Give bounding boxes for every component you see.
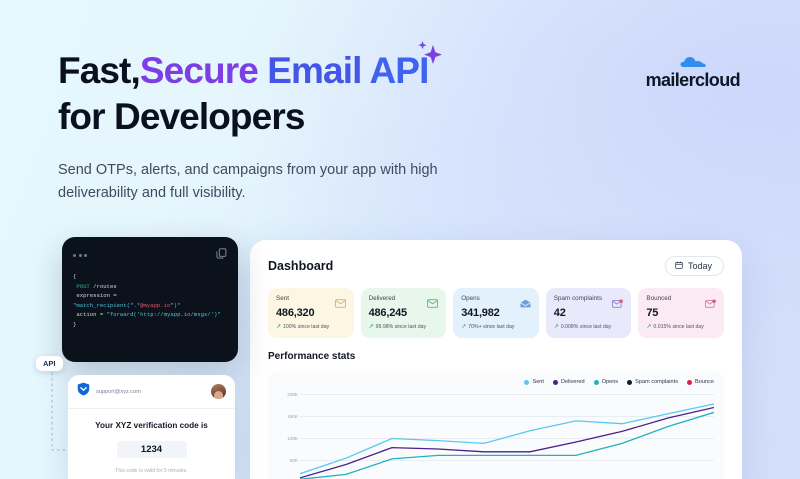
chart-series-canvas xyxy=(300,392,714,479)
y-tick-label: 100K xyxy=(287,436,298,441)
stat-card-delivered[interactable]: Delivered 486,245 ↗ 99.98% since last da… xyxy=(361,288,447,338)
legend-label: Delivered xyxy=(561,379,585,385)
stat-delta-label: 100% since last day xyxy=(283,324,329,330)
legend-item-sent[interactable]: Sent xyxy=(524,379,544,385)
chart-plot-area: 200K 150K 100K 50K xyxy=(278,392,714,479)
dashboard-panel: Dashboard Today Sent 486,320 xyxy=(250,240,742,479)
stat-value: 42 xyxy=(554,307,624,319)
email-preview-header: support@xyz.com xyxy=(68,375,235,409)
headline-fast: Fast, xyxy=(58,50,140,91)
api-badge-label: API xyxy=(43,359,56,368)
stat-label: Delivered xyxy=(369,295,396,302)
email-sender-address: support@xyz.com xyxy=(96,389,205,395)
verification-code: 1234 xyxy=(117,441,187,458)
legend-swatch xyxy=(627,380,632,385)
y-tick-label: 50K xyxy=(290,458,298,463)
envelope-open-icon xyxy=(520,295,531,304)
code-panel-toolbar xyxy=(73,246,227,264)
stat-card-sent[interactable]: Sent 486,320 ↗ 100% since last day xyxy=(268,288,354,338)
stat-value: 75 xyxy=(646,307,716,319)
legend-label: Opens xyxy=(602,379,618,385)
envelope-bounce-icon xyxy=(705,295,716,304)
legend-item-delivered[interactable]: Delivered xyxy=(553,379,585,385)
stat-label: Spam complaints xyxy=(554,295,602,302)
api-badge: API xyxy=(36,356,63,371)
stat-delta-label: 0.015% since last day xyxy=(653,324,703,330)
trend-up-icon: ↗ xyxy=(646,324,651,330)
code-open-brace: { xyxy=(73,273,76,280)
hero-subhead: Send OTPs, alerts, and campaigns from yo… xyxy=(58,159,478,206)
stat-delta: ↗ 0.015% since last day xyxy=(646,324,716,330)
avatar xyxy=(211,384,226,399)
stat-card-bounced[interactable]: Bounced 75 ↗ 0.015% since last day xyxy=(638,288,724,338)
performance-chart: Sent Delivered Opens Spam complaints Bou… xyxy=(268,371,724,479)
trend-up-icon: ↗ xyxy=(276,324,281,330)
email-preview-note: This code is valid for 5 minutes. xyxy=(82,468,221,474)
trend-up-icon: ↗ xyxy=(369,324,374,330)
chart-line-delivered xyxy=(300,408,714,478)
y-axis: 200K 150K 100K 50K xyxy=(278,392,300,479)
stat-delta-label: 0.008% since last day xyxy=(561,324,611,330)
code-expression-value-post: ")" xyxy=(170,302,180,309)
trend-up-icon: ↗ xyxy=(461,324,466,330)
stat-delta-label: 99.98% since last day xyxy=(376,324,426,330)
headline-email: Email xyxy=(258,50,362,91)
performance-stats-title: Performance stats xyxy=(268,351,724,362)
stat-value: 341,982 xyxy=(461,307,531,319)
stat-label: Bounced xyxy=(646,295,671,302)
envelope-alert-icon xyxy=(612,295,623,304)
code-expression-domain: @myapp.io xyxy=(140,302,170,309)
legend-swatch xyxy=(553,380,558,385)
code-block: { POST /routes expression = "match_recip… xyxy=(73,272,227,330)
code-expression-key: expression = xyxy=(73,292,117,299)
dashboard-title: Dashboard xyxy=(268,259,333,273)
stat-label: Opens xyxy=(461,295,480,302)
code-path: /routes xyxy=(90,283,117,290)
chart-legend: Sent Delivered Opens Spam complaints Bou… xyxy=(278,379,714,385)
code-close-brace: } xyxy=(73,321,76,328)
stat-cards: Sent 486,320 ↗ 100% since last day Deliv… xyxy=(268,288,724,338)
chart-line-sent xyxy=(300,404,714,474)
code-method: POST xyxy=(76,283,89,290)
code-action-value: "forward('http://myapp.io/msgs/')" xyxy=(107,311,221,318)
hero-section: Fast,Secure Email API for Developers Sen… xyxy=(58,48,538,206)
stat-delta: ↗ 70%+ since last day xyxy=(461,324,531,330)
legend-swatch xyxy=(594,380,599,385)
email-preview-title: Your XYZ verification code is xyxy=(82,420,221,432)
legend-label: Bounce xyxy=(695,379,714,385)
stat-delta: ↗ 0.008% since last day xyxy=(554,324,624,330)
legend-swatch xyxy=(524,380,529,385)
legend-item-opens[interactable]: Opens xyxy=(594,379,618,385)
stat-delta: ↗ 100% since last day xyxy=(276,324,346,330)
email-preview-body: Your XYZ verification code is 1234 This … xyxy=(68,409,235,474)
brand-name: mailercloud xyxy=(646,70,740,90)
y-tick-label: 200K xyxy=(287,392,298,397)
legend-item-bounce[interactable]: Bounce xyxy=(687,379,714,385)
sparkle-icon xyxy=(407,37,447,77)
window-dots-icon xyxy=(73,254,87,257)
legend-label: Sent xyxy=(532,379,544,385)
stat-card-opens[interactable]: Opens 341,982 ↗ 70%+ since last day xyxy=(453,288,539,338)
stat-value: 486,245 xyxy=(369,307,439,319)
calendar-icon xyxy=(675,261,683,271)
brand-logo[interactable]: mailercloud xyxy=(646,55,740,91)
shield-check-icon xyxy=(77,382,90,401)
email-preview-card: support@xyz.com Your XYZ verification co… xyxy=(68,375,235,479)
trend-up-icon: ↗ xyxy=(554,324,559,330)
date-filter-label: Today xyxy=(688,261,712,271)
page-title: Fast,Secure Email API for Developers xyxy=(58,48,538,139)
stat-label: Sent xyxy=(276,295,289,302)
dashboard-header: Dashboard Today xyxy=(268,256,724,276)
copy-icon[interactable] xyxy=(216,246,227,264)
stat-delta-label: 70%+ since last day xyxy=(468,324,514,330)
code-action-key: action = xyxy=(73,311,107,318)
envelope-check-icon xyxy=(427,295,438,304)
stat-delta: ↗ 99.98% since last day xyxy=(369,324,439,330)
stat-value: 486,320 xyxy=(276,307,346,319)
legend-swatch xyxy=(687,380,692,385)
date-filter-button[interactable]: Today xyxy=(665,256,724,276)
legend-label: Spam complaints xyxy=(635,379,678,385)
code-snippet-panel: { POST /routes expression = "match_recip… xyxy=(62,237,238,362)
code-expression-value-pre: "match_recipient(".* xyxy=(73,302,140,309)
headline-line2: for Developers xyxy=(58,96,305,137)
envelope-icon xyxy=(335,295,346,304)
y-tick-label: 150K xyxy=(287,414,298,419)
legend-item-spam-complaints[interactable]: Spam complaints xyxy=(627,379,678,385)
stat-card-spam-complaints[interactable]: Spam complaints 42 ↗ 0.008% since last d… xyxy=(546,288,632,338)
headline-secure: Secure xyxy=(140,50,258,91)
